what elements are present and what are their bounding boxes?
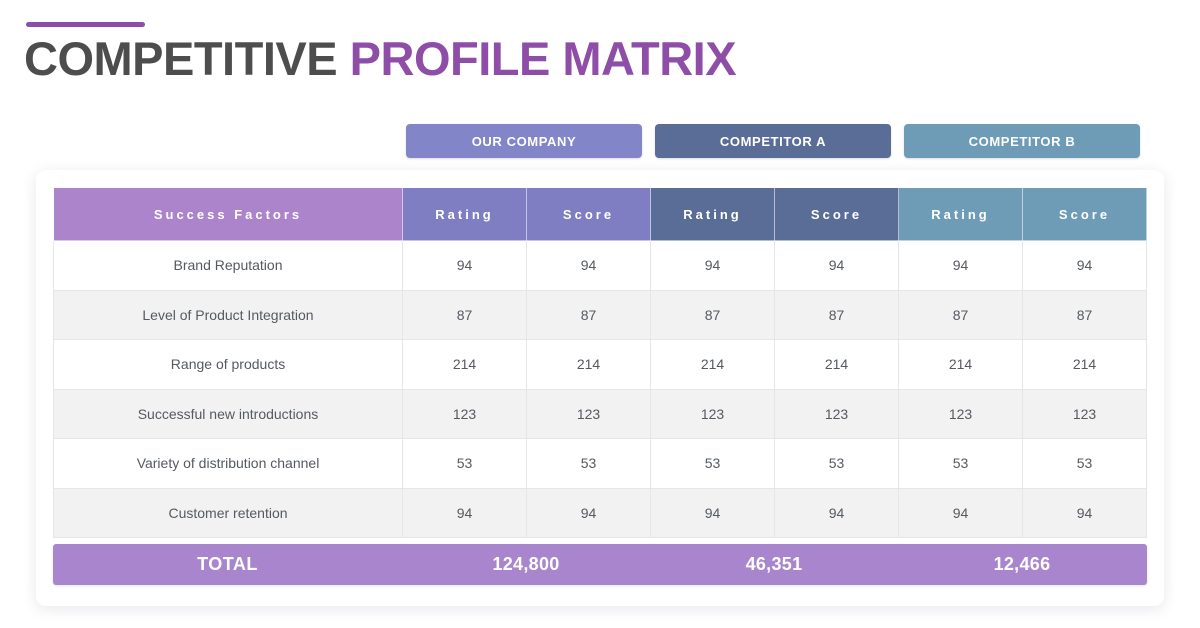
table-row: Brand Reputation 94 94 94 94 94 94 (54, 241, 1147, 291)
cell-us-rating: 53 (403, 439, 527, 489)
cell-b-score: 53 (1023, 439, 1147, 489)
page-title: COMPETITIVE PROFILE MATRIX (24, 34, 736, 85)
tab-competitor-b[interactable]: COMPETITOR B (904, 124, 1140, 158)
header-competitor-a-score: Score (775, 188, 899, 241)
cell-us-rating: 94 (403, 241, 527, 291)
total-row: TOTAL 124,800 46,351 12,466 (53, 544, 1147, 585)
cell-us-rating: 87 (403, 290, 527, 340)
table-row: Successful new introductions 123 123 123… (54, 389, 1147, 439)
slide-root: COMPETITIVE PROFILE MATRIX OUR COMPANY C… (0, 0, 1200, 628)
page-title-primary: COMPETITIVE (24, 32, 337, 85)
cell-a-rating: 53 (651, 439, 775, 489)
tab-competitor-a-label: COMPETITOR A (720, 134, 826, 149)
cell-a-score: 94 (775, 488, 899, 538)
cell-factor: Brand Reputation (54, 241, 403, 291)
cell-us-score: 123 (527, 389, 651, 439)
total-competitor-a: 46,351 (650, 554, 898, 575)
table-body: Brand Reputation 94 94 94 94 94 94 Level… (54, 241, 1147, 538)
tab-competitor-a[interactable]: COMPETITOR A (655, 124, 891, 158)
tab-our-company[interactable]: OUR COMPANY (406, 124, 642, 158)
cell-b-rating: 94 (899, 241, 1023, 291)
cell-a-rating: 94 (651, 241, 775, 291)
table-header-row: Success Factors Rating Score Rating Scor… (54, 188, 1147, 241)
cell-us-score: 87 (527, 290, 651, 340)
cell-us-score: 94 (527, 488, 651, 538)
title-accent-bar (26, 22, 145, 27)
cell-us-score: 53 (527, 439, 651, 489)
matrix-card: Success Factors Rating Score Rating Scor… (36, 170, 1164, 606)
cell-b-rating: 123 (899, 389, 1023, 439)
cell-factor: Level of Product Integration (54, 290, 403, 340)
cell-us-rating: 214 (403, 340, 527, 390)
cell-a-rating: 123 (651, 389, 775, 439)
tab-our-company-label: OUR COMPANY (472, 134, 577, 149)
table-row: Customer retention 94 94 94 94 94 94 (54, 488, 1147, 538)
cell-a-rating: 214 (651, 340, 775, 390)
table-row: Range of products 214 214 214 214 214 21… (54, 340, 1147, 390)
cell-b-score: 123 (1023, 389, 1147, 439)
header-competitor-a-rating: Rating (651, 188, 775, 241)
cell-b-score: 214 (1023, 340, 1147, 390)
header-competitor-b-score: Score (1023, 188, 1147, 241)
total-competitor-b: 12,466 (898, 554, 1146, 575)
header-competitor-b-rating: Rating (899, 188, 1023, 241)
cell-us-rating: 94 (403, 488, 527, 538)
header-success-factors: Success Factors (54, 188, 403, 241)
page-title-secondary: PROFILE MATRIX (350, 32, 736, 85)
cell-factor: Variety of distribution channel (54, 439, 403, 489)
cell-b-score: 87 (1023, 290, 1147, 340)
cell-b-rating: 94 (899, 488, 1023, 538)
cell-a-score: 53 (775, 439, 899, 489)
total-label: TOTAL (53, 554, 402, 575)
table-row: Level of Product Integration 87 87 87 87… (54, 290, 1147, 340)
header-our-company-rating: Rating (403, 188, 527, 241)
table-header: Success Factors Rating Score Rating Scor… (54, 188, 1147, 241)
cell-factor: Successful new introductions (54, 389, 403, 439)
cell-b-rating: 87 (899, 290, 1023, 340)
competitive-profile-table: Success Factors Rating Score Rating Scor… (53, 187, 1147, 538)
cell-a-score: 87 (775, 290, 899, 340)
cell-factor: Range of products (54, 340, 403, 390)
cell-a-score: 94 (775, 241, 899, 291)
total-our-company: 124,800 (402, 554, 650, 575)
company-tab-bar: OUR COMPANY COMPETITOR A COMPETITOR B (406, 124, 1140, 158)
cell-us-rating: 123 (403, 389, 527, 439)
cell-b-score: 94 (1023, 488, 1147, 538)
cell-b-score: 94 (1023, 241, 1147, 291)
header-our-company-score: Score (527, 188, 651, 241)
cell-us-score: 94 (527, 241, 651, 291)
cell-factor: Customer retention (54, 488, 403, 538)
tab-competitor-b-label: COMPETITOR B (969, 134, 1076, 149)
cell-a-score: 123 (775, 389, 899, 439)
table-row: Variety of distribution channel 53 53 53… (54, 439, 1147, 489)
cell-us-score: 214 (527, 340, 651, 390)
cell-b-rating: 214 (899, 340, 1023, 390)
cell-b-rating: 53 (899, 439, 1023, 489)
cell-a-rating: 87 (651, 290, 775, 340)
cell-a-rating: 94 (651, 488, 775, 538)
cell-a-score: 214 (775, 340, 899, 390)
